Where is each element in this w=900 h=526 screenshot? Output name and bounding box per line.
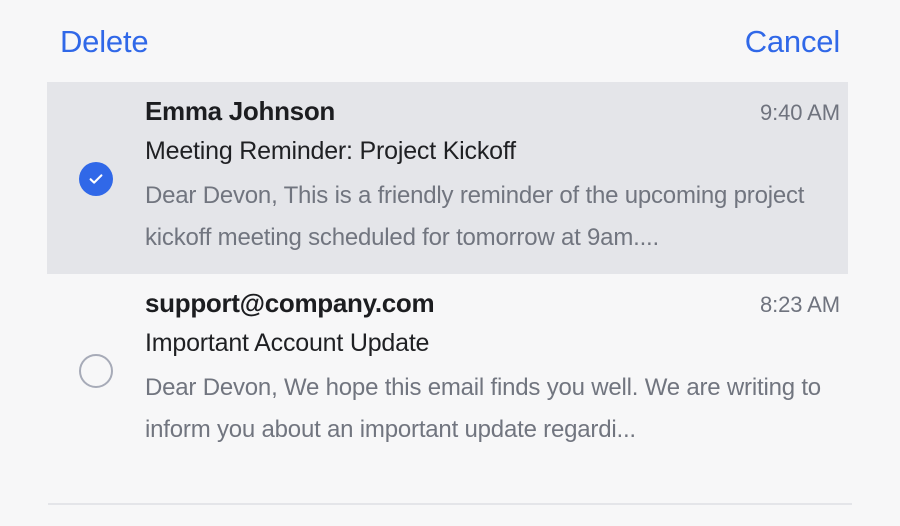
email-selection-screen: Delete Cancel Emma Johnson 9:40 AM bbox=[0, 0, 900, 526]
email-subject: Meeting Reminder: Project Kickoff bbox=[145, 136, 840, 167]
email-subject: Important Account Update bbox=[145, 328, 840, 359]
email-timestamp: 9:40 AM bbox=[760, 100, 840, 126]
delete-button[interactable]: Delete bbox=[60, 26, 148, 57]
email-list-item[interactable]: Emma Johnson 9:40 AM Meeting Reminder: P… bbox=[0, 82, 900, 274]
email-preview: Dear Devon, This is a friendly reminder … bbox=[145, 175, 837, 258]
list-divider bbox=[48, 503, 852, 505]
checkbox-cell[interactable] bbox=[47, 288, 145, 450]
cancel-button[interactable]: Cancel bbox=[745, 26, 840, 57]
email-sender: support@company.com bbox=[145, 288, 434, 319]
email-preview: Dear Devon, We hope this email finds you… bbox=[145, 367, 837, 450]
toolbar: Delete Cancel bbox=[0, 0, 900, 82]
email-timestamp: 8:23 AM bbox=[760, 292, 840, 318]
checkbox-cell[interactable] bbox=[47, 96, 145, 258]
check-circle-filled-icon[interactable] bbox=[79, 162, 113, 196]
email-content: Emma Johnson 9:40 AM Meeting Reminder: P… bbox=[145, 96, 848, 258]
email-list: Emma Johnson 9:40 AM Meeting Reminder: P… bbox=[0, 82, 900, 466]
email-sender: Emma Johnson bbox=[145, 96, 335, 127]
email-header-row: support@company.com 8:23 AM bbox=[145, 288, 840, 319]
email-header-row: Emma Johnson 9:40 AM bbox=[145, 96, 840, 127]
email-list-item[interactable]: support@company.com 8:23 AM Important Ac… bbox=[0, 274, 900, 466]
email-content: support@company.com 8:23 AM Important Ac… bbox=[145, 288, 848, 450]
circle-outline-icon[interactable] bbox=[79, 354, 113, 388]
